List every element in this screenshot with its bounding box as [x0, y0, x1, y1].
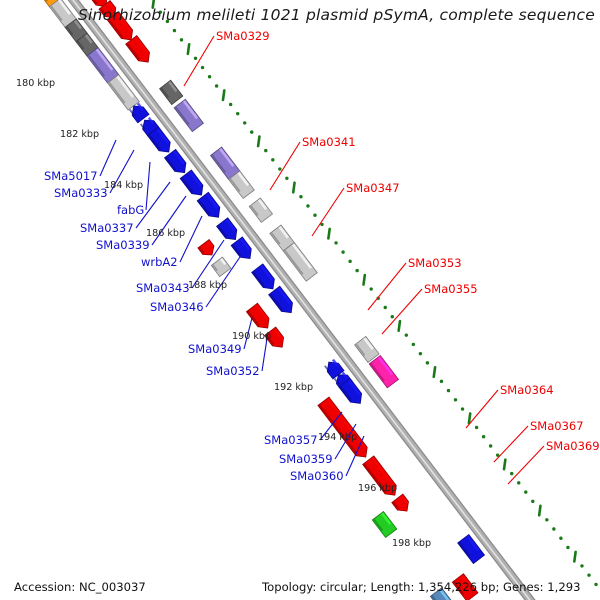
gene-label-sma0367[interactable]: SMa0367 [530, 419, 584, 433]
sequence-backbone [33, 0, 554, 600]
genome-map-viewer: Sinorhizobium melileti 1021 plasmid pSym… [0, 0, 600, 600]
ruler-tick-label: 198 kbp [392, 538, 431, 549]
gene-label-sma0333[interactable]: SMa0333 [54, 186, 108, 200]
gene-features-layer[interactable] [35, 0, 498, 600]
gene-label-sma5017[interactable]: SMa5017 [44, 169, 98, 183]
ruler-tick-label: 194 kbp [318, 432, 357, 443]
gene-label-sma0353[interactable]: SMa0353 [408, 256, 462, 270]
ruler-tick-label: 188 kbp [188, 280, 227, 291]
ruler-tick-label: 196 kbp [358, 483, 397, 494]
gene-label-sma0346[interactable]: SMa0346 [150, 300, 204, 314]
gene-label-sma0343[interactable]: SMa0343 [136, 281, 190, 295]
ruler-tick-label: 192 kbp [274, 382, 313, 393]
gene-label-sma0341[interactable]: SMa0341 [302, 135, 356, 149]
status-accession: Accession: NC_003037 [14, 580, 146, 594]
gene-label-sma0339[interactable]: SMa0339 [96, 238, 150, 252]
gene-feature[interactable] [174, 99, 203, 131]
ruler-tick-label: 180 kbp [16, 78, 55, 89]
ruler-tick-label: 182 kbp [60, 129, 99, 140]
gene-label-sma0337[interactable]: SMa0337 [80, 221, 134, 235]
gene-label-sma0329[interactable]: SMa0329 [216, 29, 270, 43]
gene-label-sma0355[interactable]: SMa0355 [424, 282, 478, 296]
gene-feature[interactable] [160, 80, 183, 104]
genome-map-canvas[interactable] [0, 0, 600, 600]
gene-label-sma0359[interactable]: SMa0359 [279, 452, 333, 466]
gene-feature[interactable] [211, 257, 231, 277]
ruler-tick-label: 186 kbp [146, 228, 185, 239]
gene-label-sma0360[interactable]: SMa0360 [290, 469, 344, 483]
status-summary: Topology: circular; Length: 1,354,226 bp… [262, 580, 580, 594]
gene-feature[interactable] [369, 356, 398, 388]
gene-label-sma0357[interactable]: SMa0357 [264, 433, 318, 447]
gene-feature[interactable] [165, 149, 186, 172]
gene-feature[interactable] [318, 397, 367, 457]
gene-label-sma0352[interactable]: SMa0352 [206, 364, 260, 378]
gene-feature[interactable] [217, 218, 237, 240]
gene-label-wrba2[interactable]: wrbA2 [141, 255, 178, 269]
gene-feature[interactable] [197, 192, 220, 217]
gene-label-sma0364[interactable]: SMa0364 [500, 383, 554, 397]
gene-feature[interactable] [355, 336, 380, 362]
ruler-tick-label: 190 kbp [232, 331, 271, 342]
gene-feature[interactable] [252, 264, 275, 289]
gene-label-sma0349[interactable]: SMa0349 [188, 342, 242, 356]
gene-feature[interactable] [198, 240, 214, 255]
gene-label-sma0347[interactable]: SMa0347 [346, 181, 400, 195]
gene-label-fabg[interactable]: fabG [117, 203, 144, 217]
gene-feature[interactable] [180, 170, 203, 195]
gene-feature[interactable] [249, 198, 272, 222]
gene-feature[interactable] [372, 512, 397, 538]
ruler-tick-label: 184 kbp [104, 180, 143, 191]
gene-feature[interactable] [392, 494, 409, 511]
page-title: Sinorhizobium melileti 1021 plasmid pSym… [78, 6, 595, 24]
gene-label-sma0369[interactable]: SMa0369 [546, 439, 600, 453]
